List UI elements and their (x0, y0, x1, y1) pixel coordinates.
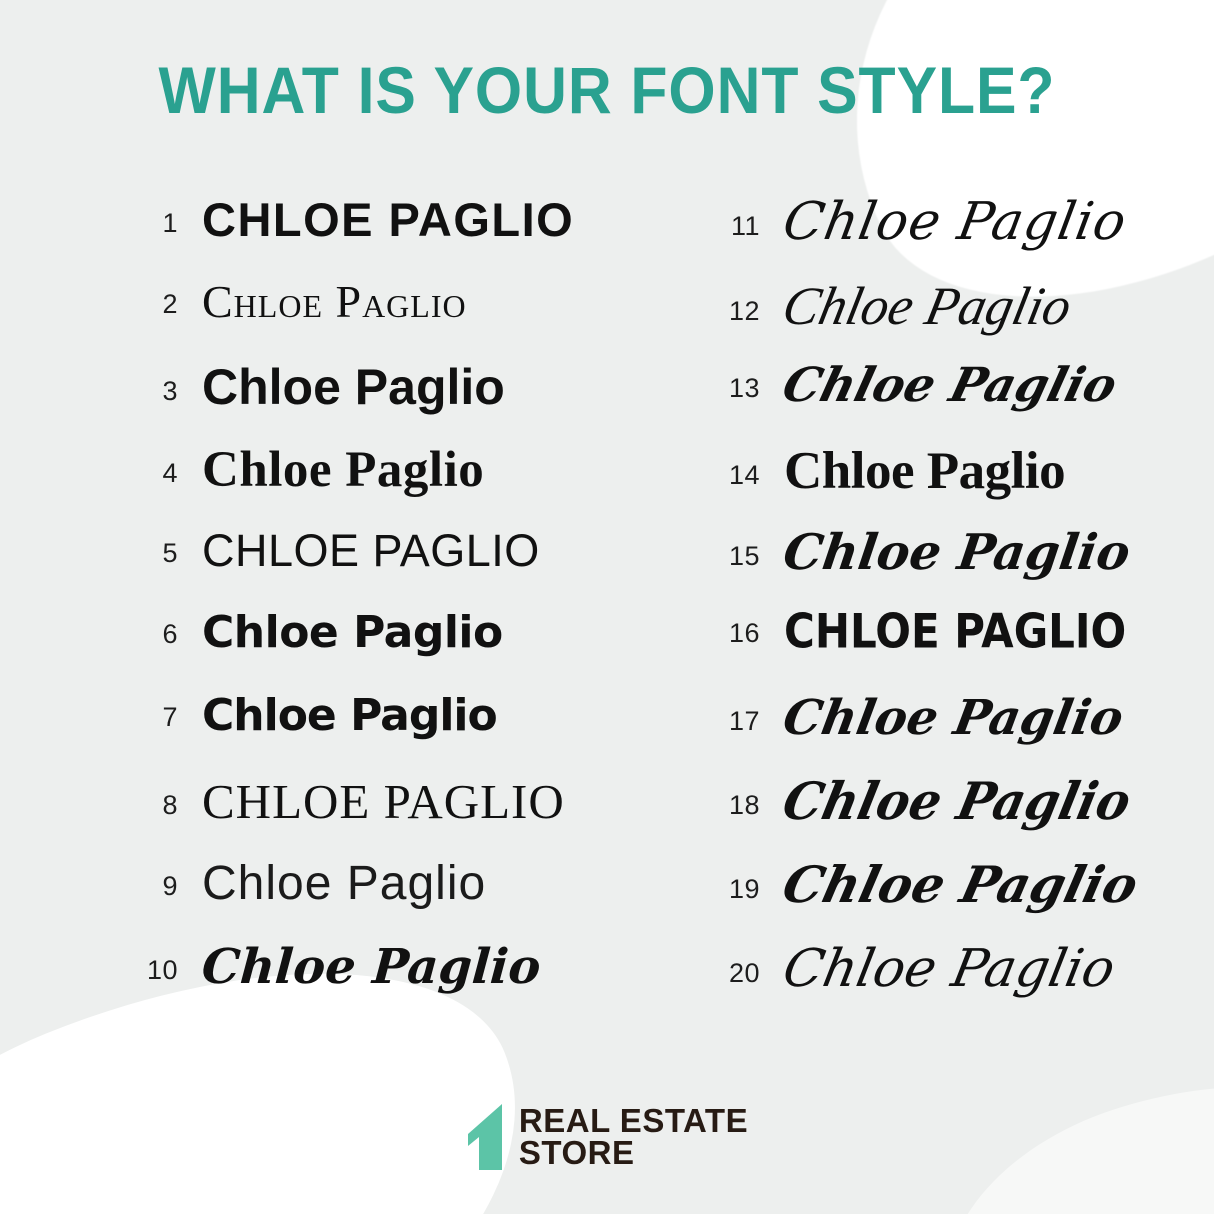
font-sample-17: Chloe Paglio (756, 694, 1127, 742)
font-sample-8: CHLOE PAGLIO (178, 777, 565, 826)
brand-logo[interactable]: REAL ESTATE STORE (466, 1104, 748, 1170)
font-sample-list: 1 CHLOE PAGLIO 2 Chloe Paglio 3 Chloe Pa… (0, 196, 1214, 1026)
list-item-number: 14 (708, 460, 760, 491)
list-item-number: 2 (126, 289, 178, 320)
list-item-number: 5 (126, 538, 178, 569)
list-item-number: 8 (126, 790, 178, 821)
font-sample-3: Chloe Paglio (178, 362, 505, 412)
list-item[interactable]: 6 Chloe Paglio (126, 611, 632, 694)
list-item-number: 9 (126, 871, 178, 902)
list-item-number: 3 (126, 376, 178, 407)
list-item[interactable]: 2 Chloe Paglio (126, 279, 632, 362)
list-item-number: 1 (126, 208, 178, 239)
list-item-number: 17 (708, 706, 760, 737)
page-title: WHAT IS YOUR FONT STYLE? (49, 52, 1166, 128)
font-sample-4: Chloe Paglio (178, 445, 484, 496)
font-sample-11: Chloe Paglio (755, 196, 1130, 248)
list-item[interactable]: 14 Chloe Paglio (708, 445, 1214, 528)
list-item-number: 18 (708, 790, 760, 821)
font-sample-20: Chloe Paglio (755, 943, 1119, 995)
list-item-number: 20 (708, 958, 760, 989)
brand-line-1: REAL ESTATE (519, 1105, 748, 1137)
list-item[interactable]: 15 Chloe Paglio (708, 528, 1214, 611)
list-item[interactable]: 5 CHLOE PAGLIO (126, 528, 632, 611)
list-item[interactable]: 1 CHLOE PAGLIO (126, 196, 632, 279)
list-item[interactable]: 13 Chloe Paglio (708, 362, 1214, 445)
list-item-number: 13 (708, 373, 760, 404)
list-item-number: 16 (708, 618, 760, 649)
list-item[interactable]: 4 Chloe Paglio (126, 445, 632, 528)
list-item[interactable]: 3 Chloe Paglio (126, 362, 632, 445)
font-sample-9: Chloe Paglio (178, 860, 486, 908)
house-arrow-logo-icon (466, 1104, 508, 1170)
font-sample-6: Chloe Paglio (178, 611, 503, 655)
font-sample-12: Chloe Paglio (754, 279, 1076, 333)
list-item[interactable]: 7 Chloe Paglio (126, 694, 632, 777)
font-sample-7: Chloe Paglio (178, 694, 497, 738)
list-item[interactable]: 10 Chloe Paglio (126, 943, 632, 1026)
list-item[interactable]: 17 Chloe Paglio (708, 694, 1214, 777)
list-item[interactable]: 11 Chloe Paglio (708, 196, 1214, 279)
font-sample-16: CHLOE PAGLIO (760, 608, 1126, 655)
list-item-number: 12 (708, 296, 760, 327)
list-item[interactable]: 8 CHLOE PAGLIO (126, 777, 632, 860)
list-item[interactable]: 18 Chloe Paglio (708, 777, 1214, 860)
list-item-number: 15 (708, 541, 760, 572)
list-item[interactable]: 19 Chloe Paglio (708, 860, 1214, 943)
brand-name: REAL ESTATE STORE (519, 1105, 748, 1168)
font-sample-1: CHLOE PAGLIO (178, 196, 574, 243)
brand-line-2: STORE (519, 1137, 748, 1169)
font-sample-15: Chloe Paglio (757, 528, 1133, 577)
list-item[interactable]: 12 Chloe Paglio (708, 279, 1214, 362)
list-item-number: 4 (126, 458, 178, 489)
list-item-number: 11 (708, 211, 760, 242)
font-sample-10: Chloe Paglio (176, 943, 542, 991)
font-list-right-column: 11 Chloe Paglio 12 Chloe Paglio 13 Chloe… (632, 196, 1214, 1026)
font-sample-2: Chloe Paglio (178, 279, 467, 325)
list-item-number: 19 (708, 874, 760, 905)
font-sample-13: Chloe Paglio (754, 362, 1121, 409)
font-sample-19: Chloe Paglio (754, 860, 1142, 910)
list-item[interactable]: 16 CHLOE PAGLIO (708, 611, 1214, 694)
list-item[interactable]: 9 Chloe Paglio (126, 860, 632, 943)
poster-canvas: WHAT IS YOUR FONT STYLE? 1 CHLOE PAGLIO … (0, 0, 1214, 1214)
footer: REAL ESTATE STORE (0, 1104, 1214, 1170)
font-sample-5: CHLOE PAGLIO (178, 528, 540, 573)
font-sample-14: Chloe Paglio (760, 445, 1065, 498)
list-item[interactable]: 20 Chloe Paglio (708, 943, 1214, 1026)
list-item-number: 6 (126, 619, 178, 650)
font-sample-18: Chloe Paglio (755, 776, 1136, 827)
list-item-number: 7 (126, 702, 178, 733)
list-item-number: 10 (126, 955, 178, 986)
font-list-left-column: 1 CHLOE PAGLIO 2 Chloe Paglio 3 Chloe Pa… (0, 196, 632, 1026)
